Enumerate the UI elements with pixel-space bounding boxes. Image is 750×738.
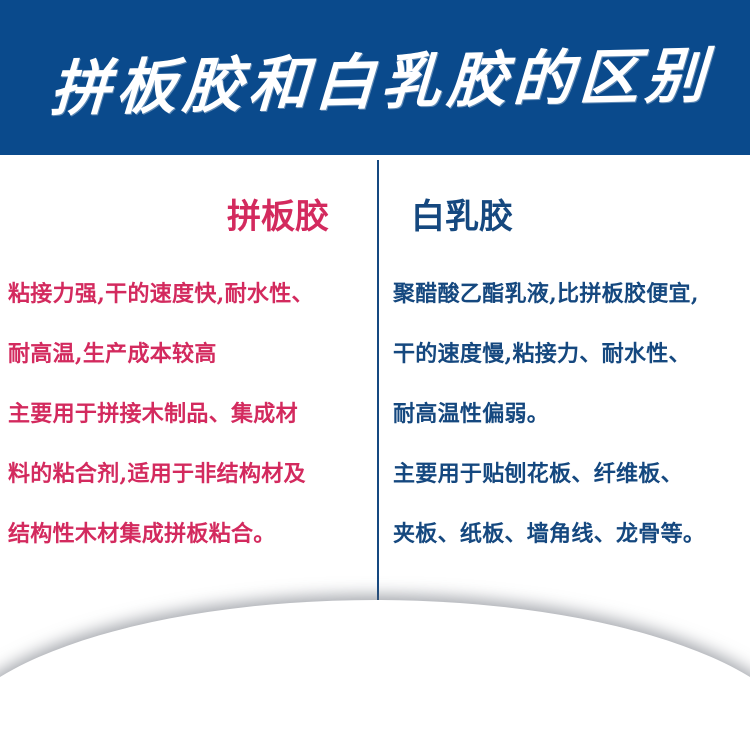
- body-line: 耐高温,生产成本较高: [8, 324, 355, 384]
- body-line: 夹板、纸板、墙角线、龙骨等。: [393, 504, 744, 564]
- column-heading-panel-glue: 拼板胶: [8, 200, 355, 234]
- body-line: 粘接力强,干的速度快,耐水性、: [8, 264, 355, 324]
- column-divider: [377, 160, 379, 612]
- column-white-latex-glue: 白乳胶 聚醋酸乙酯乳液,比拼板胶便宜, 干的速度慢,粘接力、耐水性、 耐高温性偏…: [379, 155, 750, 564]
- content-area: 拼板胶 粘接力强,干的速度快,耐水性、 耐高温,生产成本较高 主要用于拼接木制品…: [0, 155, 750, 620]
- body-line: 料的粘合剂,适用于非结构材及: [8, 444, 355, 504]
- comparison-infographic: 拼板胶和白乳胶的区别 拼板胶 粘接力强,干的速度快,耐水性、 耐高温,生产成本较…: [0, 0, 750, 738]
- column-body-white-latex-glue: 聚醋酸乙酯乳液,比拼板胶便宜, 干的速度慢,粘接力、耐水性、 耐高温性偏弱。 主…: [393, 264, 744, 564]
- page-curl-shadow: [0, 600, 750, 738]
- title-banner: 拼板胶和白乳胶的区别: [0, 0, 750, 155]
- column-panel-glue: 拼板胶 粘接力强,干的速度快,耐水性、 耐高温,生产成本较高 主要用于拼接木制品…: [0, 155, 377, 564]
- body-line: 耐高温性偏弱。: [393, 384, 744, 444]
- body-line: 主要用于贴刨花板、纤维板、: [393, 444, 744, 504]
- body-line: 聚醋酸乙酯乳液,比拼板胶便宜,: [393, 264, 744, 324]
- column-heading-white-latex-glue: 白乳胶: [393, 200, 744, 234]
- body-line: 干的速度慢,粘接力、耐水性、: [393, 324, 744, 384]
- body-line: 主要用于拼接木制品、集成材: [8, 384, 355, 444]
- column-body-panel-glue: 粘接力强,干的速度快,耐水性、 耐高温,生产成本较高 主要用于拼接木制品、集成材…: [8, 264, 355, 564]
- page-title: 拼板胶和白乳胶的区别: [0, 0, 750, 155]
- body-line: 结构性木材集成拼板粘合。: [8, 504, 355, 564]
